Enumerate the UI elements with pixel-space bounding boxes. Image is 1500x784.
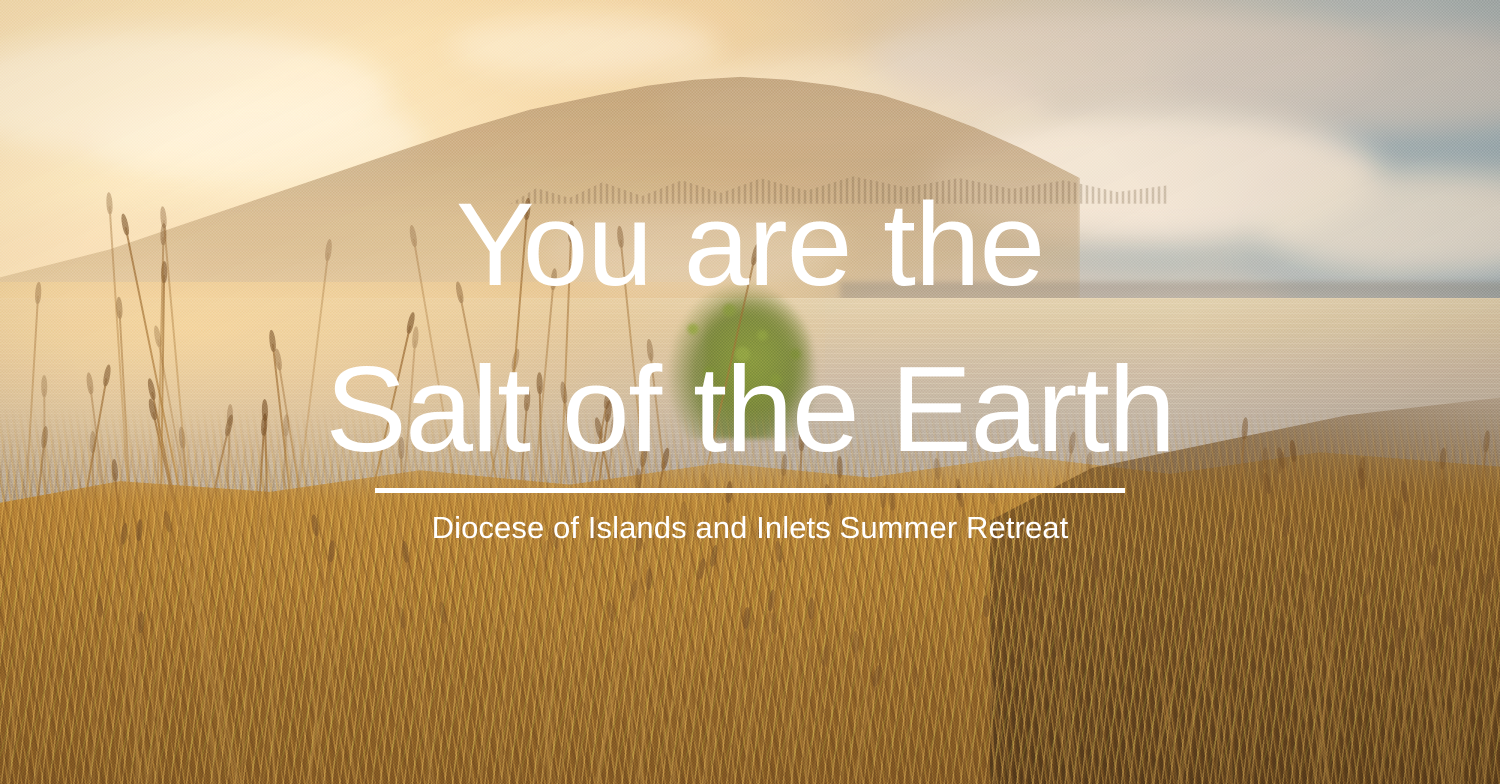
retreat-poster: You are the Salt of the Earth Diocese of… bbox=[0, 0, 1500, 784]
title-divider bbox=[375, 488, 1125, 493]
headline-line-2: Salt of the Earth bbox=[325, 348, 1174, 470]
text-overlay: You are the Salt of the Earth Diocese of… bbox=[0, 0, 1500, 784]
headline-line-1: You are the bbox=[456, 186, 1044, 304]
event-subtitle: Diocese of Islands and Inlets Summer Ret… bbox=[432, 510, 1069, 546]
